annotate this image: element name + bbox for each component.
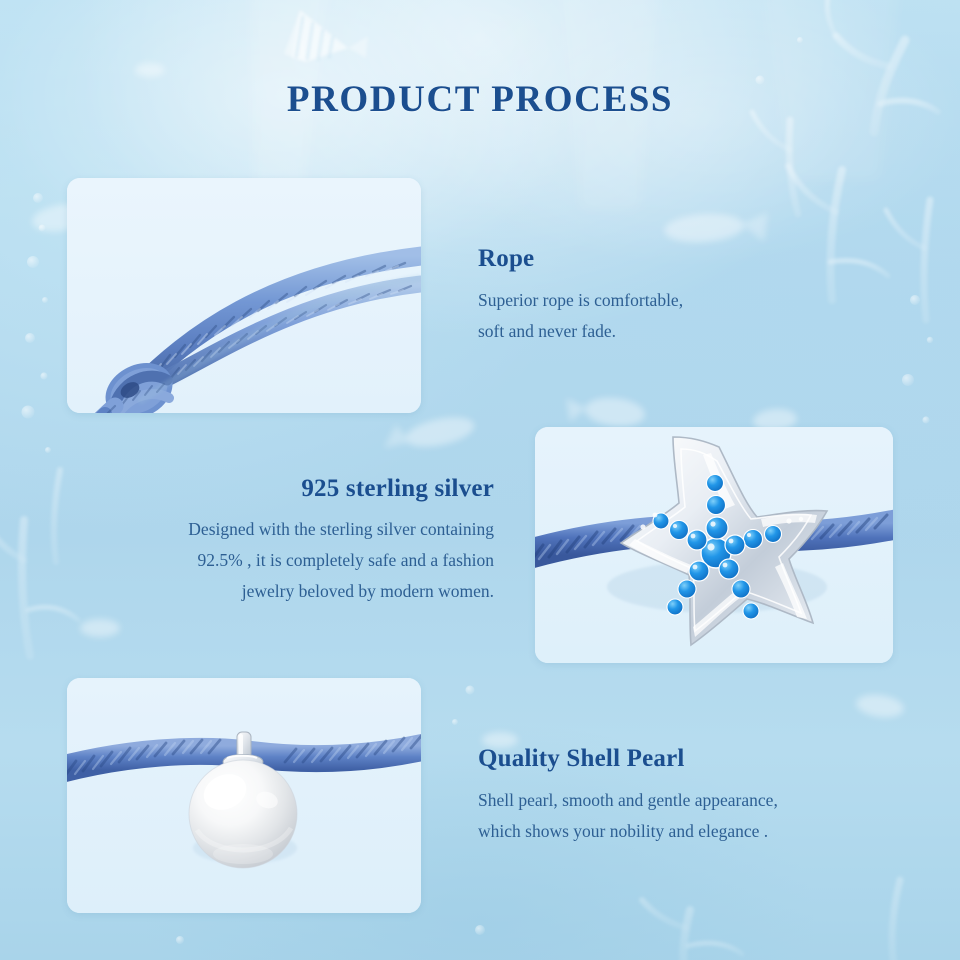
page-title: PRODUCT PROCESS bbox=[0, 78, 960, 121]
section-pearl-heading: Quality Shell Pearl bbox=[478, 745, 898, 773]
section-pearl-line-1: Shell pearl, smooth and gentle appearanc… bbox=[478, 785, 898, 816]
starfish-photo-card bbox=[535, 427, 893, 663]
section-rope-line-2: soft and never fade. bbox=[478, 316, 878, 347]
rope-photo-card bbox=[67, 178, 421, 413]
section-silver-line-1: Designed with the sterling silver contai… bbox=[104, 514, 494, 545]
starfish-photo bbox=[535, 427, 893, 663]
section-silver-heading: 925 sterling silver bbox=[104, 475, 494, 503]
pearl-illustration bbox=[67, 678, 421, 913]
rope-photo bbox=[67, 178, 421, 413]
pearl-photo bbox=[67, 678, 421, 913]
coral-branches-left bbox=[0, 470, 78, 656]
section-pearl-line-2: which shows your nobility and elegance . bbox=[478, 816, 898, 847]
product-process-infographic: PRODUCT PROCESS bbox=[0, 0, 960, 960]
rope-illustration bbox=[67, 178, 421, 413]
section-silver-line-3: jewelry beloved by modern women. bbox=[104, 576, 494, 607]
starfish-illustration bbox=[535, 427, 893, 663]
section-rope-body: Superior rope is comfortable, soft and n… bbox=[478, 285, 878, 347]
section-silver-line-2: 92.5% , it is completely safe and a fash… bbox=[104, 545, 494, 576]
section-pearl-body: Shell pearl, smooth and gentle appearanc… bbox=[478, 785, 898, 847]
section-rope-heading: Rope bbox=[478, 245, 878, 273]
section-silver-text: 925 sterling silver Designed with the st… bbox=[104, 475, 494, 607]
section-rope-line-1: Superior rope is comfortable, bbox=[478, 285, 878, 316]
section-pearl-text: Quality Shell Pearl Shell pearl, smooth … bbox=[478, 745, 898, 847]
shell-pearl bbox=[189, 760, 297, 868]
section-silver-body: Designed with the sterling silver contai… bbox=[104, 514, 494, 607]
pearl-photo-card bbox=[67, 678, 421, 913]
section-rope-text: Rope Superior rope is comfortable, soft … bbox=[478, 245, 878, 347]
coral-branches-bottom bbox=[642, 880, 900, 960]
